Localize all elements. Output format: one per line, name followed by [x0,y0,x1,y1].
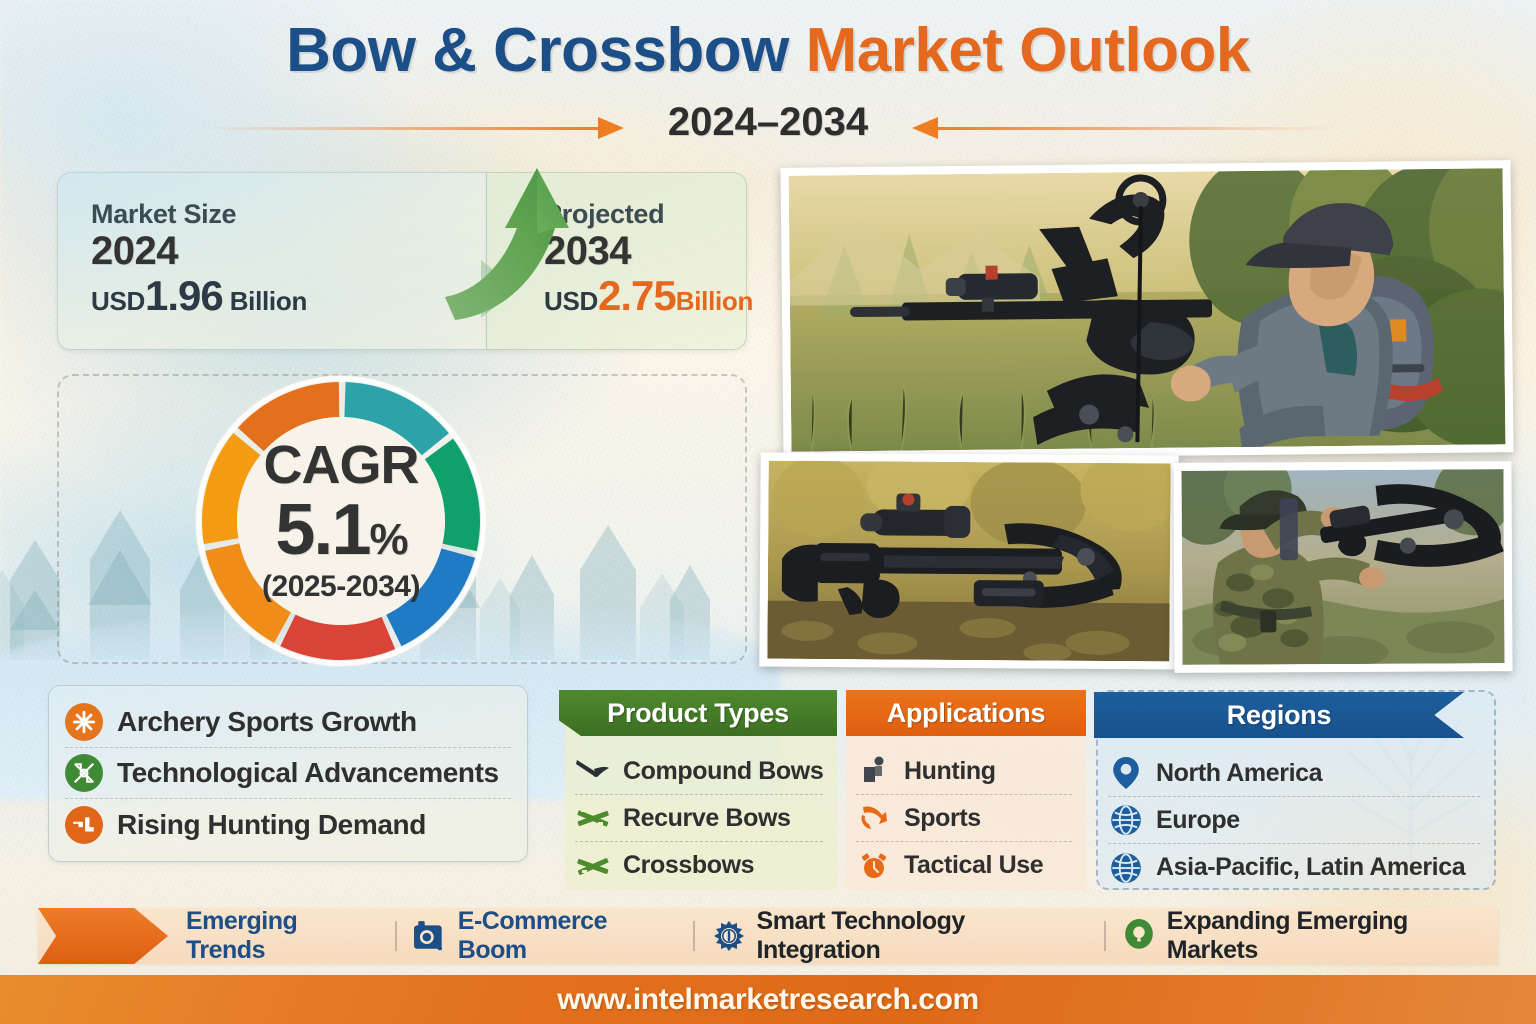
application-label: Sports [904,804,981,833]
driver-row-hunting[interactable]: Rising Hunting Demand [65,799,511,850]
infographic-canvas: Bow & Crossbow Market Outlook 2024–2034 … [0,0,1536,1024]
application-label: Tactical Use [904,851,1043,880]
product-type-row[interactable]: Compound Bows [575,748,823,795]
cagr-donut-chart [176,366,506,676]
divider [395,921,397,951]
projected-year: 2034 [544,230,753,272]
hunting-icon [65,806,103,844]
title-secondary: Market Outlook [806,16,1250,85]
photo-hunter-aiming-crossbow [780,160,1513,460]
region-label: Asia-Pacific, Latin America [1156,853,1465,882]
projected-value: USD2.75Billion [544,272,753,320]
application-label: Hunting [904,757,996,786]
trends-arrow-icon [38,908,168,964]
region-label: North America [1156,759,1322,788]
photo-collage [760,158,1520,676]
application-row[interactable]: Tactical Use [856,842,1072,889]
market-size-number: 1.96 [145,272,223,319]
panel-applications-title: Applications [846,690,1086,736]
location-pin-icon [1122,919,1157,953]
compound-bow-icon [575,754,611,788]
trend-label: Expanding Emerging Markets [1167,907,1498,965]
driver-label: Archery Sports Growth [117,706,417,738]
divider [1104,921,1106,951]
hunting-boot-icon [856,754,892,788]
divider [693,921,695,951]
sports-horn-icon [856,801,892,835]
footer-url[interactable]: www.intelmarketresearch.com [557,983,979,1017]
title-year-row: 2024–2034 [0,100,1536,152]
photo-camouflage-hunter [1173,461,1512,673]
trend-label: Smart Technology Integration [757,907,1088,965]
target-burst-icon [65,703,103,741]
photo-crossbow-closeup [759,453,1178,670]
application-row[interactable]: Sports [856,795,1072,842]
panel-regions: Regions North America [1096,690,1496,890]
emerging-trends-bar: Emerging Trends E-Commerce Boom [38,908,1498,964]
crossbow-icon [575,849,611,883]
region-row[interactable]: Asia-Pacific, Latin America [1108,844,1480,891]
market-size-2024-card: Market Size 2024 USD1.96 Billion [57,172,487,350]
panel-regions-title: Regions [1094,692,1464,738]
projected-currency: USD [544,286,598,316]
footer-bar: www.intelmarketresearch.com [0,975,1536,1024]
globe-icon [1108,803,1144,837]
product-type-row[interactable]: Crossbows [575,842,823,889]
map-pin-icon [1108,756,1144,790]
arrow-right-icon [200,124,620,132]
driver-label: Rising Hunting Demand [117,809,426,841]
trends-heading: Emerging Trends [186,908,379,964]
driver-label: Technological Advancements [117,757,499,789]
market-size-year: 2024 [91,230,307,272]
panel-product-types-title: Product Types [559,690,837,736]
driver-row-archery[interactable]: Archery Sports Growth [65,697,511,748]
product-type-label: Crossbows [623,851,754,880]
market-size-label: Market Size [91,199,307,230]
growth-chevron-icon [481,260,517,318]
application-row[interactable]: Hunting [856,748,1072,795]
trend-label: E-Commerce Boom [458,907,678,965]
tactical-clock-icon [856,849,892,883]
title-year-range: 2024–2034 [668,100,868,145]
product-type-label: Recurve Bows [623,804,791,833]
product-type-label: Compound Bows [623,757,823,786]
projected-number: 2.75 [598,272,676,319]
market-size-unit: Billion [230,286,307,316]
region-row[interactable]: North America [1108,750,1480,797]
region-row[interactable]: Europe [1108,797,1480,844]
trend-item-emerging-markets[interactable]: Expanding Emerging Markets [1122,908,1498,964]
smart-gear-icon [711,919,746,953]
recurve-bow-icon [575,801,611,835]
arrow-left-icon [916,124,1336,132]
market-size-cards: Market Size 2024 USD1.96 Billion Project… [57,172,747,350]
driver-row-technology[interactable]: Technological Advancements [65,748,511,799]
trend-item-ecommerce[interactable]: E-Commerce Boom [413,908,678,964]
projected-2034-card: Projected 2034 USD2.75Billion [487,172,747,350]
panel-applications: Applications Hunting [846,690,1086,890]
page-title: Bow & Crossbow Market Outlook [0,18,1536,83]
projected-label: Projected [544,199,753,230]
growth-drivers-card: Archery Sports Growth Technological Adva… [48,685,528,862]
region-label: Europe [1156,806,1240,835]
market-size-currency: USD [91,286,145,316]
projected-unit: Billion [676,286,753,316]
panel-product-types: Product Types Compound Bows [565,690,837,890]
trends-heading-label: Emerging Trends [186,907,379,965]
product-type-row[interactable]: Recurve Bows [575,795,823,842]
market-size-value: USD1.96 Billion [91,272,307,320]
title-primary: Bow & Crossbow [286,16,806,85]
globe-icon [1108,851,1144,885]
tech-gear-icon [65,754,103,792]
trend-item-smart-tech[interactable]: Smart Technology Integration [711,908,1087,964]
camera-search-icon [413,919,448,953]
